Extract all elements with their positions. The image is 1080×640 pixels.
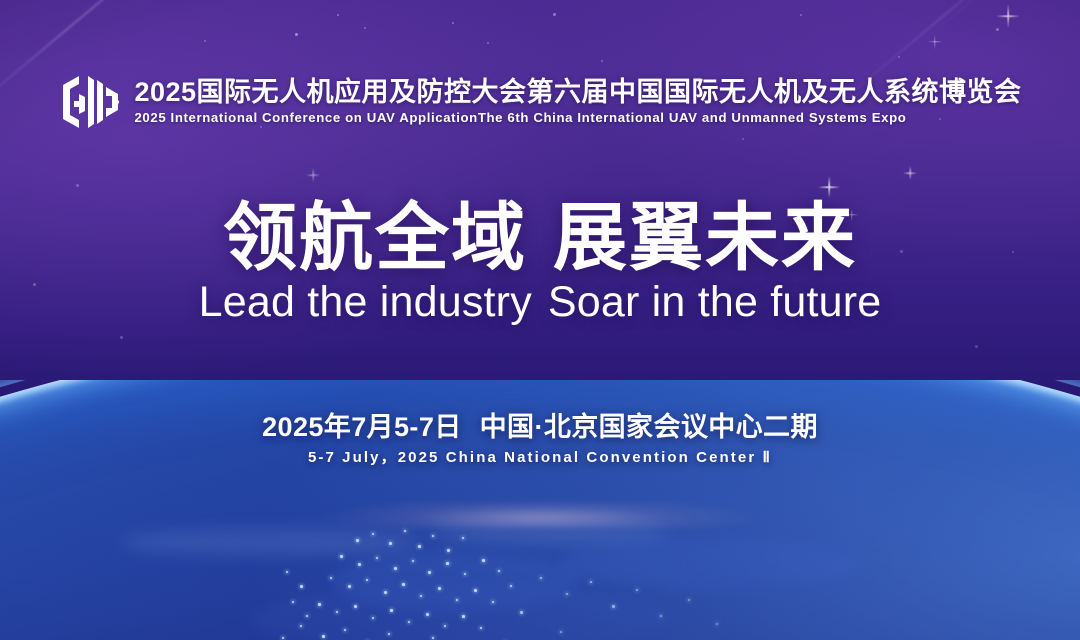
city-lights-layer <box>0 515 1080 640</box>
hero-headline-en-part1: Lead the industry <box>199 278 532 326</box>
event-date-venue-en: 5-7 July，2025 China National Convention … <box>0 450 1080 467</box>
guc-hexagon-logo-icon <box>58 74 120 130</box>
hero-headline-cn: 领航全域展翼未来 <box>0 200 1080 276</box>
hero-headline-cn-part2: 展翼未来 <box>553 196 857 279</box>
hero-headline-en: Lead the industrySoar in the future <box>0 280 1080 325</box>
event-venue-cn: 中国·北京国家会议中心二期 <box>480 412 818 442</box>
conference-title-en: 2025 International Conference on UAV App… <box>134 111 1021 124</box>
header-text-block: 2025国际无人机应用及防控大会第六届中国国际无人机及无人系统博览会 2025 … <box>134 79 1021 124</box>
event-meta-block: 2025年7月5-7日中国·北京国家会议中心二期 5-7 July，2025 C… <box>0 412 1080 466</box>
event-date-venue-cn: 2025年7月5-7日中国·北京国家会议中心二期 <box>0 412 1080 444</box>
hero-block: 领航全域展翼未来 Lead the industrySoar in the fu… <box>0 200 1080 325</box>
event-date-cn: 2025年7月5-7日 <box>262 412 462 442</box>
poster-header: 2025国际无人机应用及防控大会第六届中国国际无人机及无人系统博览会 2025 … <box>0 74 1080 130</box>
event-poster: 2025国际无人机应用及防控大会第六届中国国际无人机及无人系统博览会 2025 … <box>0 0 1080 640</box>
hero-headline-cn-part1: 领航全域 <box>223 196 527 279</box>
conference-title-cn: 2025国际无人机应用及防控大会第六届中国国际无人机及无人系统博览会 <box>134 79 1021 106</box>
hero-headline-en-part2: Soar in the future <box>548 278 881 326</box>
